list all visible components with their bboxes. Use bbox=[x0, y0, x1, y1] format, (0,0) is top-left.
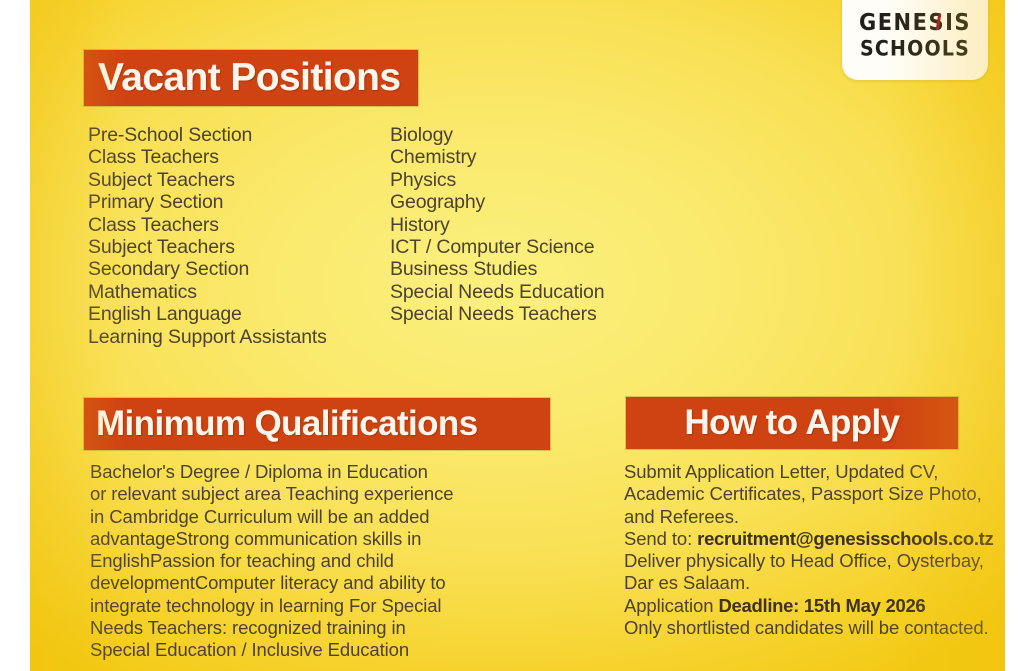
list-item: Biology bbox=[390, 124, 604, 146]
list-item: Class Teachers bbox=[88, 214, 327, 236]
logo-text-schools: SCHOOLS bbox=[842, 37, 988, 62]
deadline-text: Deadline: 15th May 2026 bbox=[718, 595, 925, 616]
qualification-line: or relevant subject area Teaching experi… bbox=[90, 483, 510, 505]
how-to-apply-heading: How to Apply bbox=[684, 403, 899, 443]
minimum-qualifications-body: Bachelor's Degree / Diploma in Education… bbox=[90, 461, 510, 662]
send-to-label: Send to: bbox=[624, 528, 692, 549]
minimum-qualifications-heading: Minimum Qualifications bbox=[96, 404, 478, 444]
apply-line: Submit Application Letter, Updated CV, bbox=[624, 461, 1005, 483]
list-item: Physics bbox=[390, 169, 604, 191]
list-item: English Language bbox=[88, 303, 327, 325]
list-item: ICT / Computer Science bbox=[390, 236, 604, 258]
list-item: Chemistry bbox=[390, 146, 604, 168]
qualification-line: advantageStrong communication skills in bbox=[90, 528, 510, 550]
apply-line: Deliver physically to Head Office, Oyste… bbox=[624, 550, 1005, 572]
apply-deadline-line: Application Deadline: 15th May 2026 bbox=[624, 595, 1005, 617]
qualification-line: Bachelor's Degree / Diploma in Education bbox=[90, 461, 510, 483]
logo-text-genesis: GENESIS bbox=[842, 9, 988, 36]
apply-line: Only shortlisted candidates will be cont… bbox=[624, 617, 1005, 639]
list-item: Secondary Section bbox=[88, 258, 327, 280]
list-item: Pre-School Section bbox=[88, 124, 327, 146]
list-item: Subject Teachers bbox=[88, 169, 327, 191]
minimum-qualifications-heading-banner: Minimum Qualifications bbox=[84, 398, 550, 450]
vacant-positions-right-column: Biology Chemistry Physics Geography Hist… bbox=[390, 124, 604, 326]
job-advert-poster: GENESIS SCHOOLS Vacant Positions Pre-Sch… bbox=[30, 0, 1005, 671]
list-item: Special Needs Education bbox=[390, 281, 604, 303]
list-item: Special Needs Teachers bbox=[390, 303, 604, 325]
apply-line: and Referees. bbox=[624, 506, 1005, 528]
application-label: Application bbox=[624, 595, 713, 616]
qualification-line: Special Education / Inclusive Education bbox=[90, 639, 510, 661]
how-to-apply-heading-banner: How to Apply bbox=[626, 397, 958, 449]
how-to-apply-body: Submit Application Letter, Updated CV, A… bbox=[624, 461, 1005, 639]
apply-email-line: Send to: recruitment@genesisschools.co.t… bbox=[624, 528, 1005, 550]
qualification-line: Needs Teachers: recognized training in bbox=[90, 617, 510, 639]
qualification-line: developmentComputer literacy and ability… bbox=[90, 572, 510, 594]
list-item: Business Studies bbox=[390, 258, 604, 280]
list-item: History bbox=[390, 214, 604, 236]
list-item: Class Teachers bbox=[88, 146, 327, 168]
qualification-line: EnglishPassion for teaching and child bbox=[90, 550, 510, 572]
list-item: Learning Support Assistants bbox=[88, 326, 327, 348]
list-item: Primary Section bbox=[88, 191, 327, 213]
vacant-positions-heading-banner: Vacant Positions bbox=[84, 50, 418, 106]
vacant-positions-left-column: Pre-School Section Class Teachers Subjec… bbox=[88, 124, 327, 348]
recruitment-email[interactable]: recruitment@genesisschools.co.tz bbox=[697, 528, 993, 549]
qualification-line: integrate technology in learning For Spe… bbox=[90, 595, 510, 617]
apply-line: Dar es Salaam. bbox=[624, 572, 1005, 594]
qualification-line: in Cambridge Curriculum will be an added bbox=[90, 506, 510, 528]
school-logo: GENESIS SCHOOLS bbox=[842, 0, 988, 80]
list-item: Mathematics bbox=[88, 281, 327, 303]
vacant-positions-heading: Vacant Positions bbox=[98, 56, 401, 100]
apply-line: Academic Certificates, Passport Size Pho… bbox=[624, 483, 1005, 505]
list-item: Subject Teachers bbox=[88, 236, 327, 258]
list-item: Geography bbox=[390, 191, 604, 213]
